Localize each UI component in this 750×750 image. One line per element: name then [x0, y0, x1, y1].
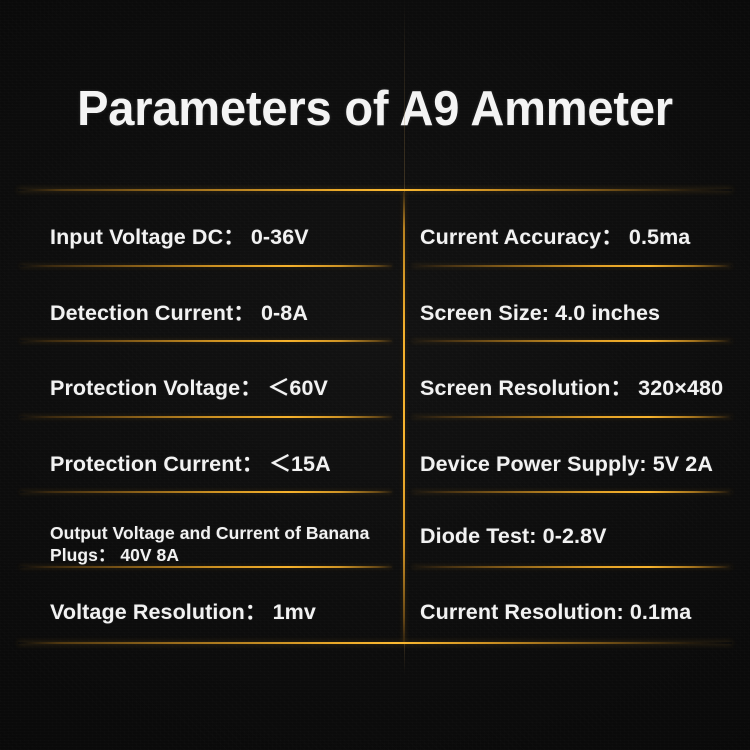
divider-right-2: [412, 340, 732, 342]
divider-left-2: [20, 340, 392, 342]
divider-top: [18, 189, 732, 191]
divider-left-5: [20, 566, 392, 568]
spec-left-voltage-resolution: Voltage Resolution： 1mv: [50, 598, 316, 626]
spec-left-protection-current: Protection Current： ＜15A: [50, 450, 331, 478]
column-divider-seam-bottom: [404, 644, 405, 674]
spec-right-current-accuracy: Current Accuracy： 0.5ma: [420, 223, 690, 251]
divider-bottom: [18, 642, 732, 644]
divider-right-1: [412, 265, 732, 267]
column-divider-seam-top: [404, 0, 405, 192]
spec-right-device-power-supply: Device Power Supply: 5V 2A: [420, 450, 713, 478]
divider-left-4: [20, 491, 392, 493]
divider-left-1: [20, 265, 392, 267]
divider-left-3: [20, 416, 392, 418]
spec-left-banana-plugs: Output Voltage and Current of Banana Plu…: [50, 522, 380, 566]
column-divider: [403, 192, 405, 644]
spec-right-diode-test: Diode Test: 0-2.8V: [420, 522, 607, 550]
divider-right-4: [412, 491, 732, 493]
spec-right-screen-size: Screen Size: 4.0 inches: [420, 299, 660, 327]
divider-right-5: [412, 566, 732, 568]
spec-left-protection-voltage: Protection Voltage： ＜60V: [50, 374, 328, 402]
spec-sheet: Parameters of A9 Ammeter Input Voltage D…: [0, 0, 750, 750]
spec-right-screen-resolution: Screen Resolution： 320×480: [420, 374, 723, 402]
divider-right-3: [412, 416, 732, 418]
page-title: Parameters of A9 Ammeter: [15, 78, 735, 140]
spec-right-current-resolution: Current Resolution: 0.1ma: [420, 598, 691, 626]
spec-left-input-voltage: Input Voltage DC： 0-36V: [50, 223, 309, 251]
spec-left-detection-current: Detection Current： 0-8A: [50, 299, 308, 327]
